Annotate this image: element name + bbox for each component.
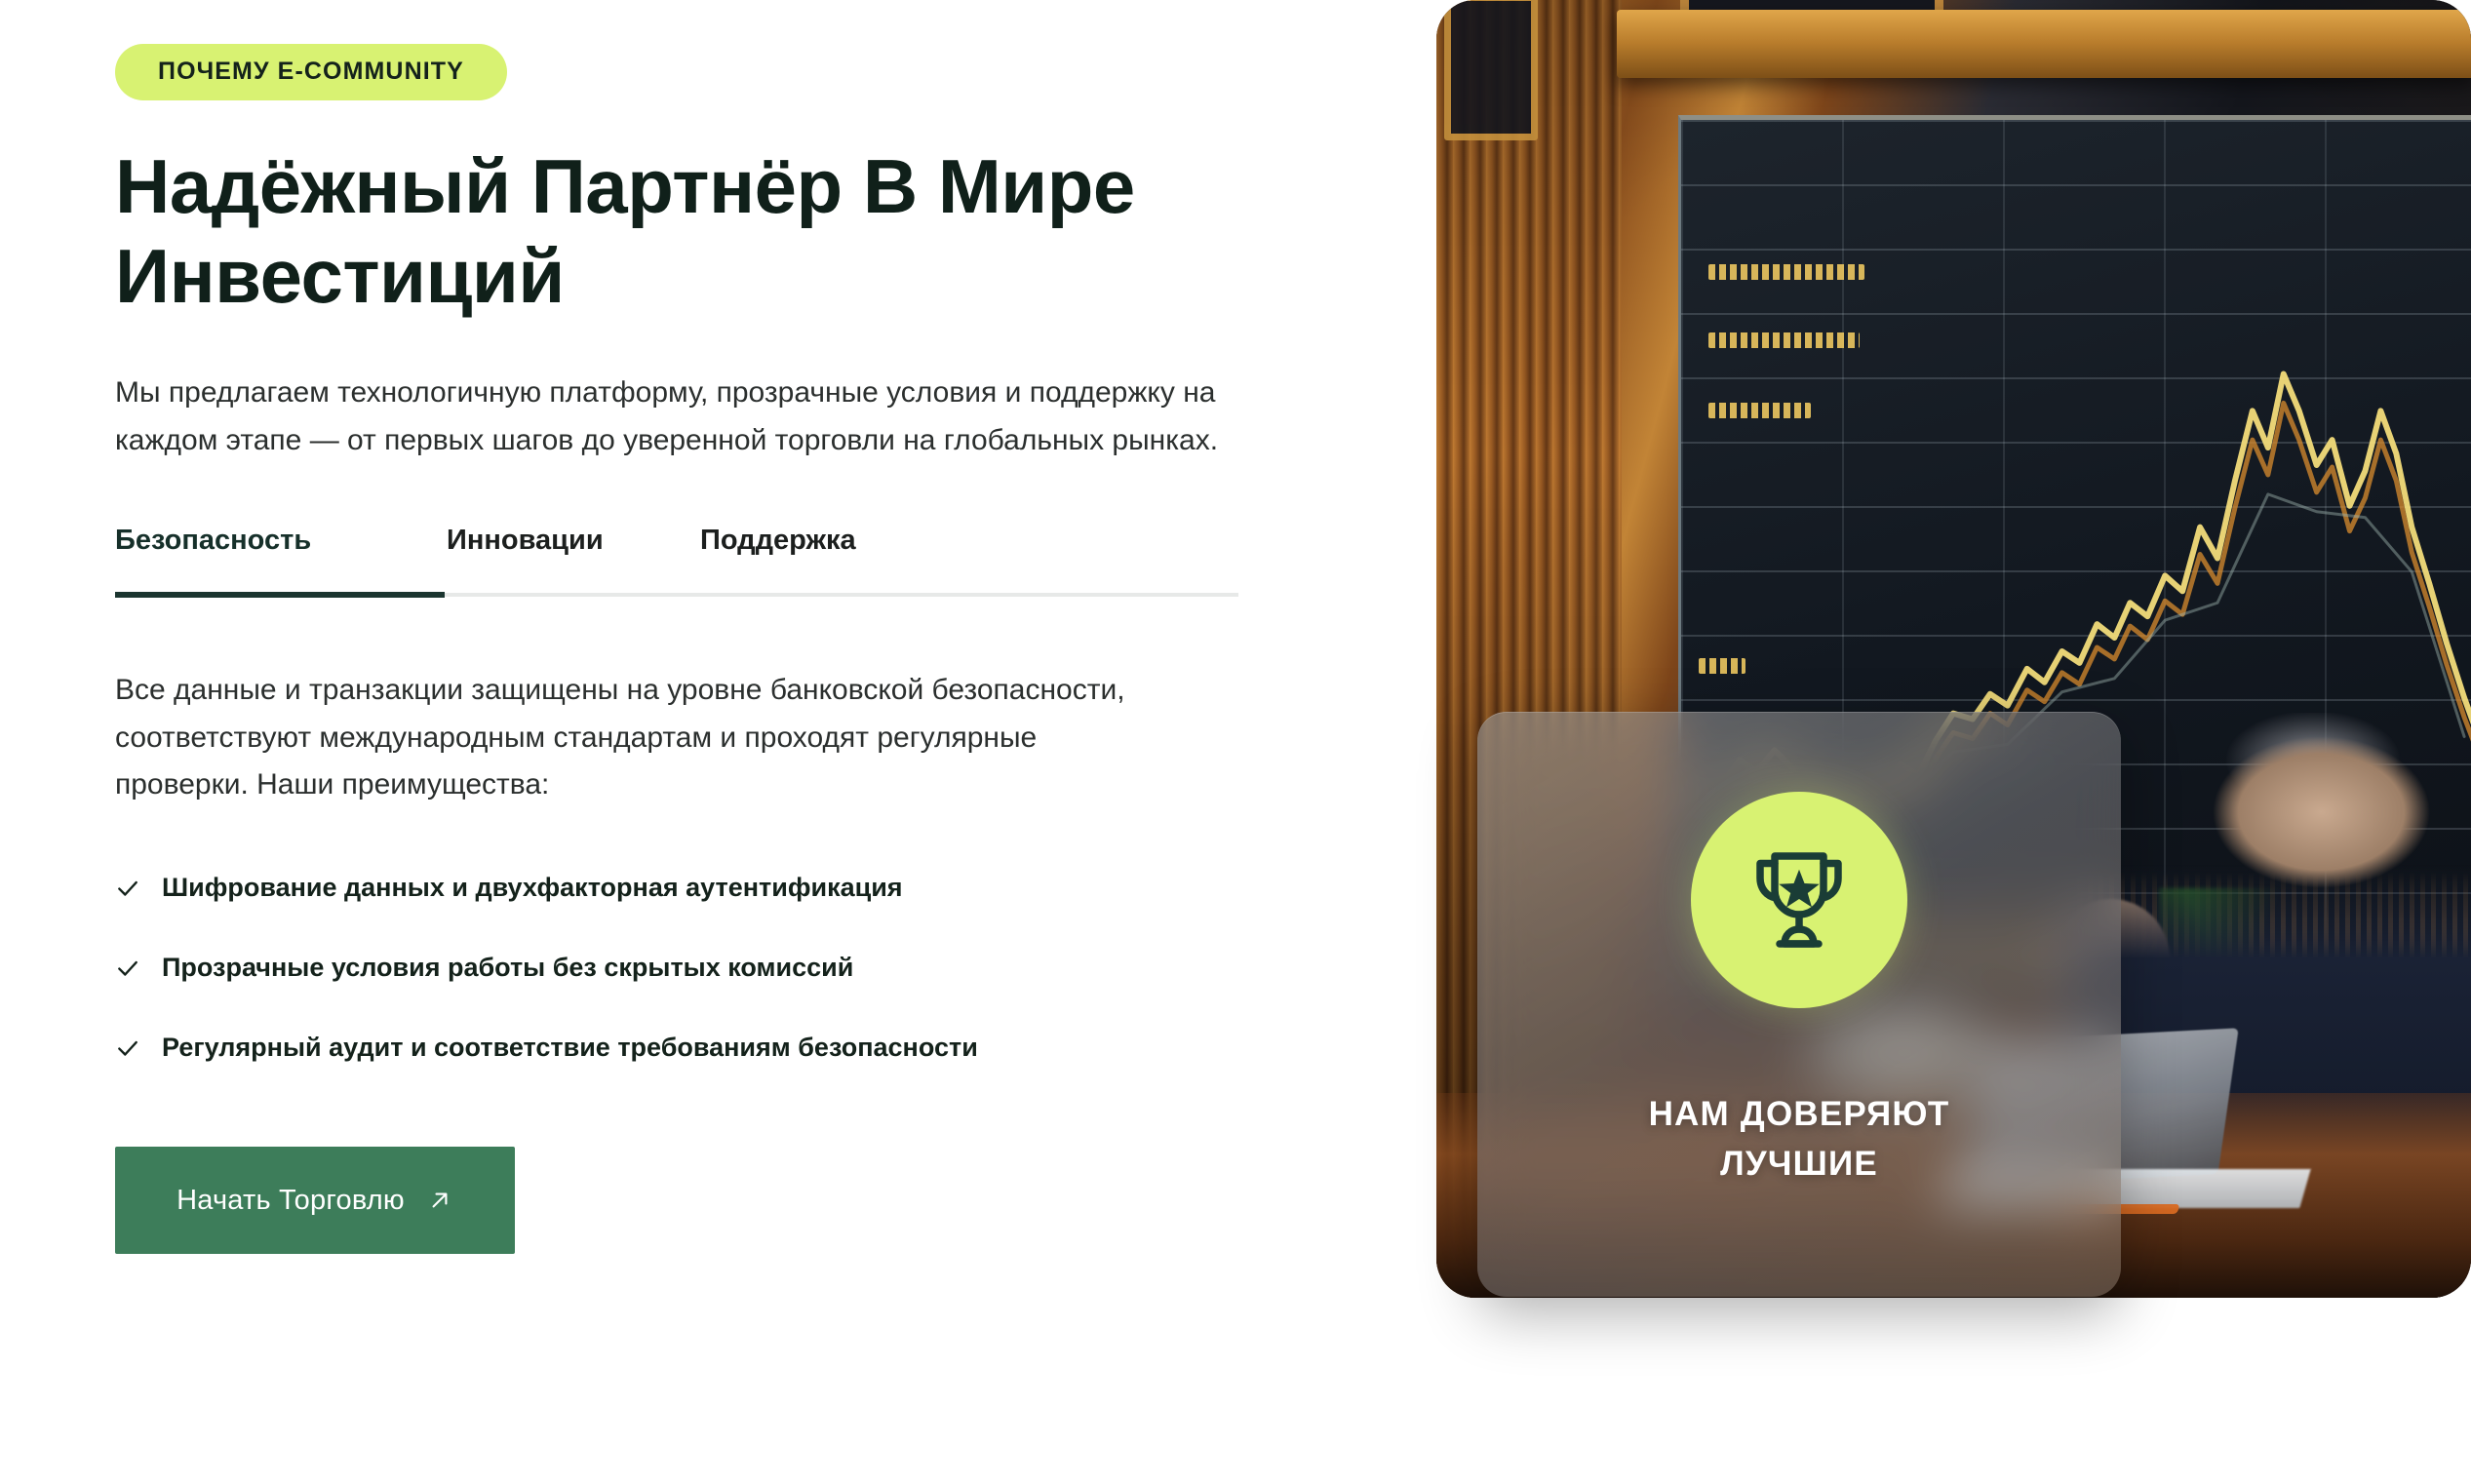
tab-panel-body: Все данные и транзакции защищены на уров…	[115, 667, 1168, 809]
list-item: Шифрование данных и двухфакторная аутент…	[115, 872, 1285, 905]
check-icon	[115, 952, 140, 985]
tabs-strip: Безопасность Инновации Поддержка	[115, 525, 1246, 579]
check-icon	[115, 872, 140, 905]
benefit-label: Шифрование данных и двухфакторная аутент…	[162, 872, 903, 903]
trust-card-title-line-2: ЛУЧШИЕ	[1526, 1140, 2072, 1190]
page-title: Надёжный Партнёр В Мире Инвестиций	[115, 141, 1266, 321]
trophy-icon	[1741, 841, 1858, 958]
start-trading-button[interactable]: Начать Торговлю	[115, 1147, 515, 1254]
gold-cornice	[1617, 10, 2471, 78]
cta-label: Начать Торговлю	[176, 1185, 405, 1217]
trust-card-title: НАМ ДОВЕРЯЮТ ЛУЧШИЕ	[1526, 1090, 2072, 1190]
trust-card-title-line-1: НАМ ДОВЕРЯЮТ	[1526, 1090, 2072, 1140]
eyebrow-badge: ПОЧЕМУ E-COMMUNITY	[115, 44, 507, 100]
benefits-list: Шифрование данных и двухфакторная аутент…	[115, 872, 1285, 1065]
trophy-icon-circle	[1691, 792, 1907, 1008]
tab-active-indicator	[115, 592, 445, 598]
landing-page: ПОЧЕМУ E-COMMUNITY Надёжный Партнёр В Ми…	[0, 0, 2471, 1484]
benefit-label: Регулярный аудит и соответствие требован…	[162, 1032, 978, 1063]
arrow-up-right-icon	[426, 1187, 453, 1214]
tab-security[interactable]: Безопасность	[115, 525, 447, 557]
intro-paragraph: Мы предлагаем технологичную платформу, п…	[115, 370, 1246, 464]
tab-support[interactable]: Поддержка	[700, 525, 954, 557]
tab-innovations[interactable]: Инновации	[447, 525, 700, 557]
benefit-label: Прозрачные условия работы без скрытых ко…	[162, 952, 853, 983]
wall-picture-frame	[1444, 0, 1538, 140]
check-icon	[115, 1032, 140, 1065]
content-column: ПОЧЕМУ E-COMMUNITY Надёжный Партнёр В Ми…	[115, 0, 1285, 1484]
feature-tabs: Безопасность Инновации Поддержка	[115, 525, 1246, 606]
list-item: Регулярный аудит и соответствие требован…	[115, 1032, 1285, 1065]
trust-badge-card: НАМ ДОВЕРЯЮТ ЛУЧШИЕ	[1477, 712, 2121, 1297]
list-item: Прозрачные условия работы без скрытых ко…	[115, 952, 1285, 985]
